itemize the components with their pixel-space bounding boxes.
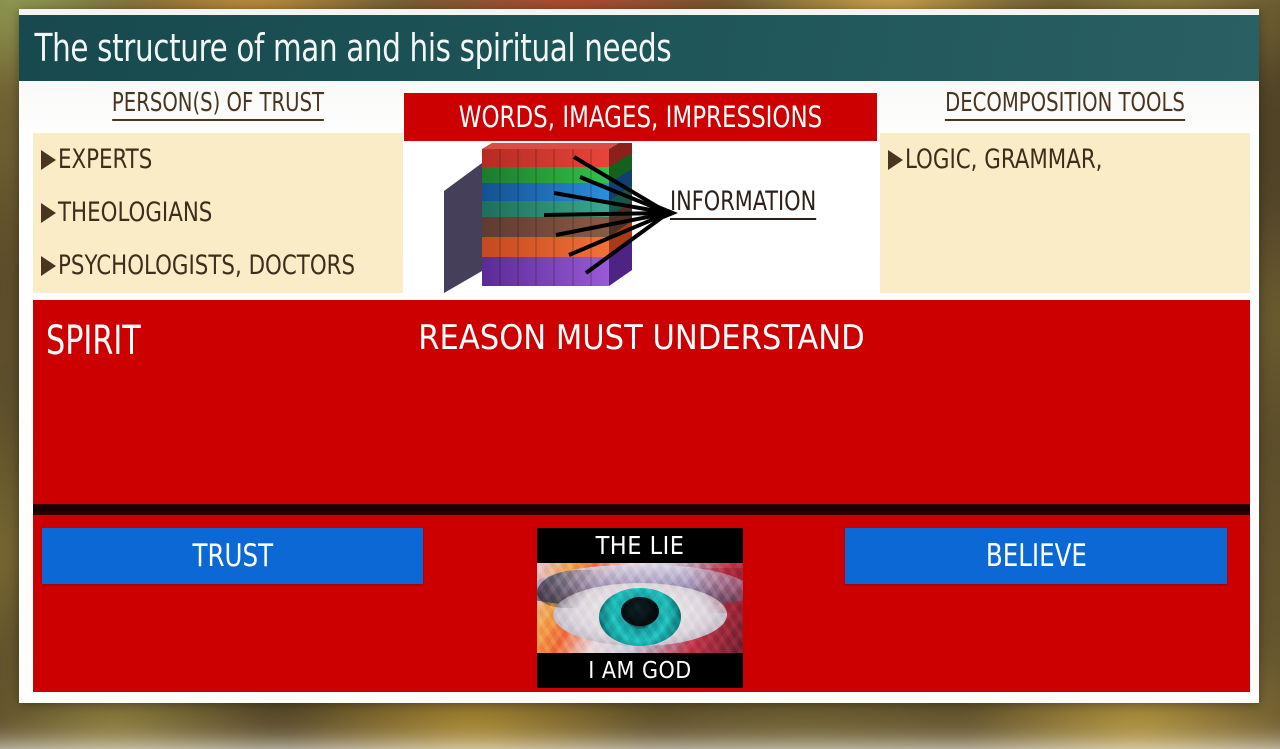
information-label-text: INFORMATION (670, 186, 816, 220)
believe-button[interactable]: BELIEVE (845, 528, 1227, 584)
trust-button[interactable]: TRUST (42, 528, 423, 584)
trust-button-label: TRUST (192, 538, 273, 574)
triangle-bullet-icon (41, 256, 56, 276)
body-block: SPIRIT REASON MUST UNDERSTAND TRUST BELI… (33, 300, 1250, 692)
center-column-artwork: INFORMATION (404, 141, 877, 296)
center-column-header-text: WORDS, IMAGES, IMPRESSIONS (459, 100, 822, 134)
list-item-label: LOGIC, GRAMMAR, (905, 144, 1102, 175)
reason-label: REASON MUST UNDERSTAND (33, 318, 1250, 358)
right-column-header: DECOMPOSITION TOOLS (910, 88, 1221, 121)
list-item-label: EXPERTS (58, 144, 152, 175)
divider-bar (33, 504, 1250, 515)
left-column-header-text: PERSON(S) OF TRUST (112, 88, 324, 121)
left-column-panel: EXPERTS THEOLOGIANS PSYCHOLOGISTS, DOCTO… (33, 133, 403, 293)
right-column-header-text: DECOMPOSITION TOOLS (945, 88, 1185, 121)
i-am-god-label: I AM GOD (537, 653, 743, 688)
the-lie-title: THE LIE (537, 528, 743, 563)
list-item-label: PSYCHOLOGISTS, DOCTORS (58, 250, 355, 281)
list-item: PSYCHOLOGISTS, DOCTORS (33, 239, 403, 292)
triangle-bullet-icon (41, 150, 56, 170)
left-column-header: PERSON(S) OF TRUST (63, 88, 374, 121)
list-item: LOGIC, GRAMMAR, (880, 133, 1250, 186)
triangle-bullet-icon (41, 203, 56, 223)
color-block-cube-image (434, 143, 684, 295)
list-item-label: THEOLOGIANS (58, 197, 212, 228)
center-column-header: WORDS, IMAGES, IMPRESSIONS (404, 93, 877, 141)
page-title: The structure of man and his spiritual n… (19, 26, 671, 70)
right-column-panel: LOGIC, GRAMMAR, (880, 133, 1250, 293)
title-bar: The structure of man and his spiritual n… (19, 15, 1259, 81)
list-item: THEOLOGIANS (33, 186, 403, 239)
triangle-bullet-icon (888, 150, 903, 170)
believe-button-label: BELIEVE (985, 538, 1086, 574)
the-lie-card: THE LIE I AM GOD (537, 528, 743, 688)
list-item: EXPERTS (33, 133, 403, 186)
information-label: INFORMATION (670, 186, 816, 217)
polygonal-eye-image (537, 563, 743, 653)
